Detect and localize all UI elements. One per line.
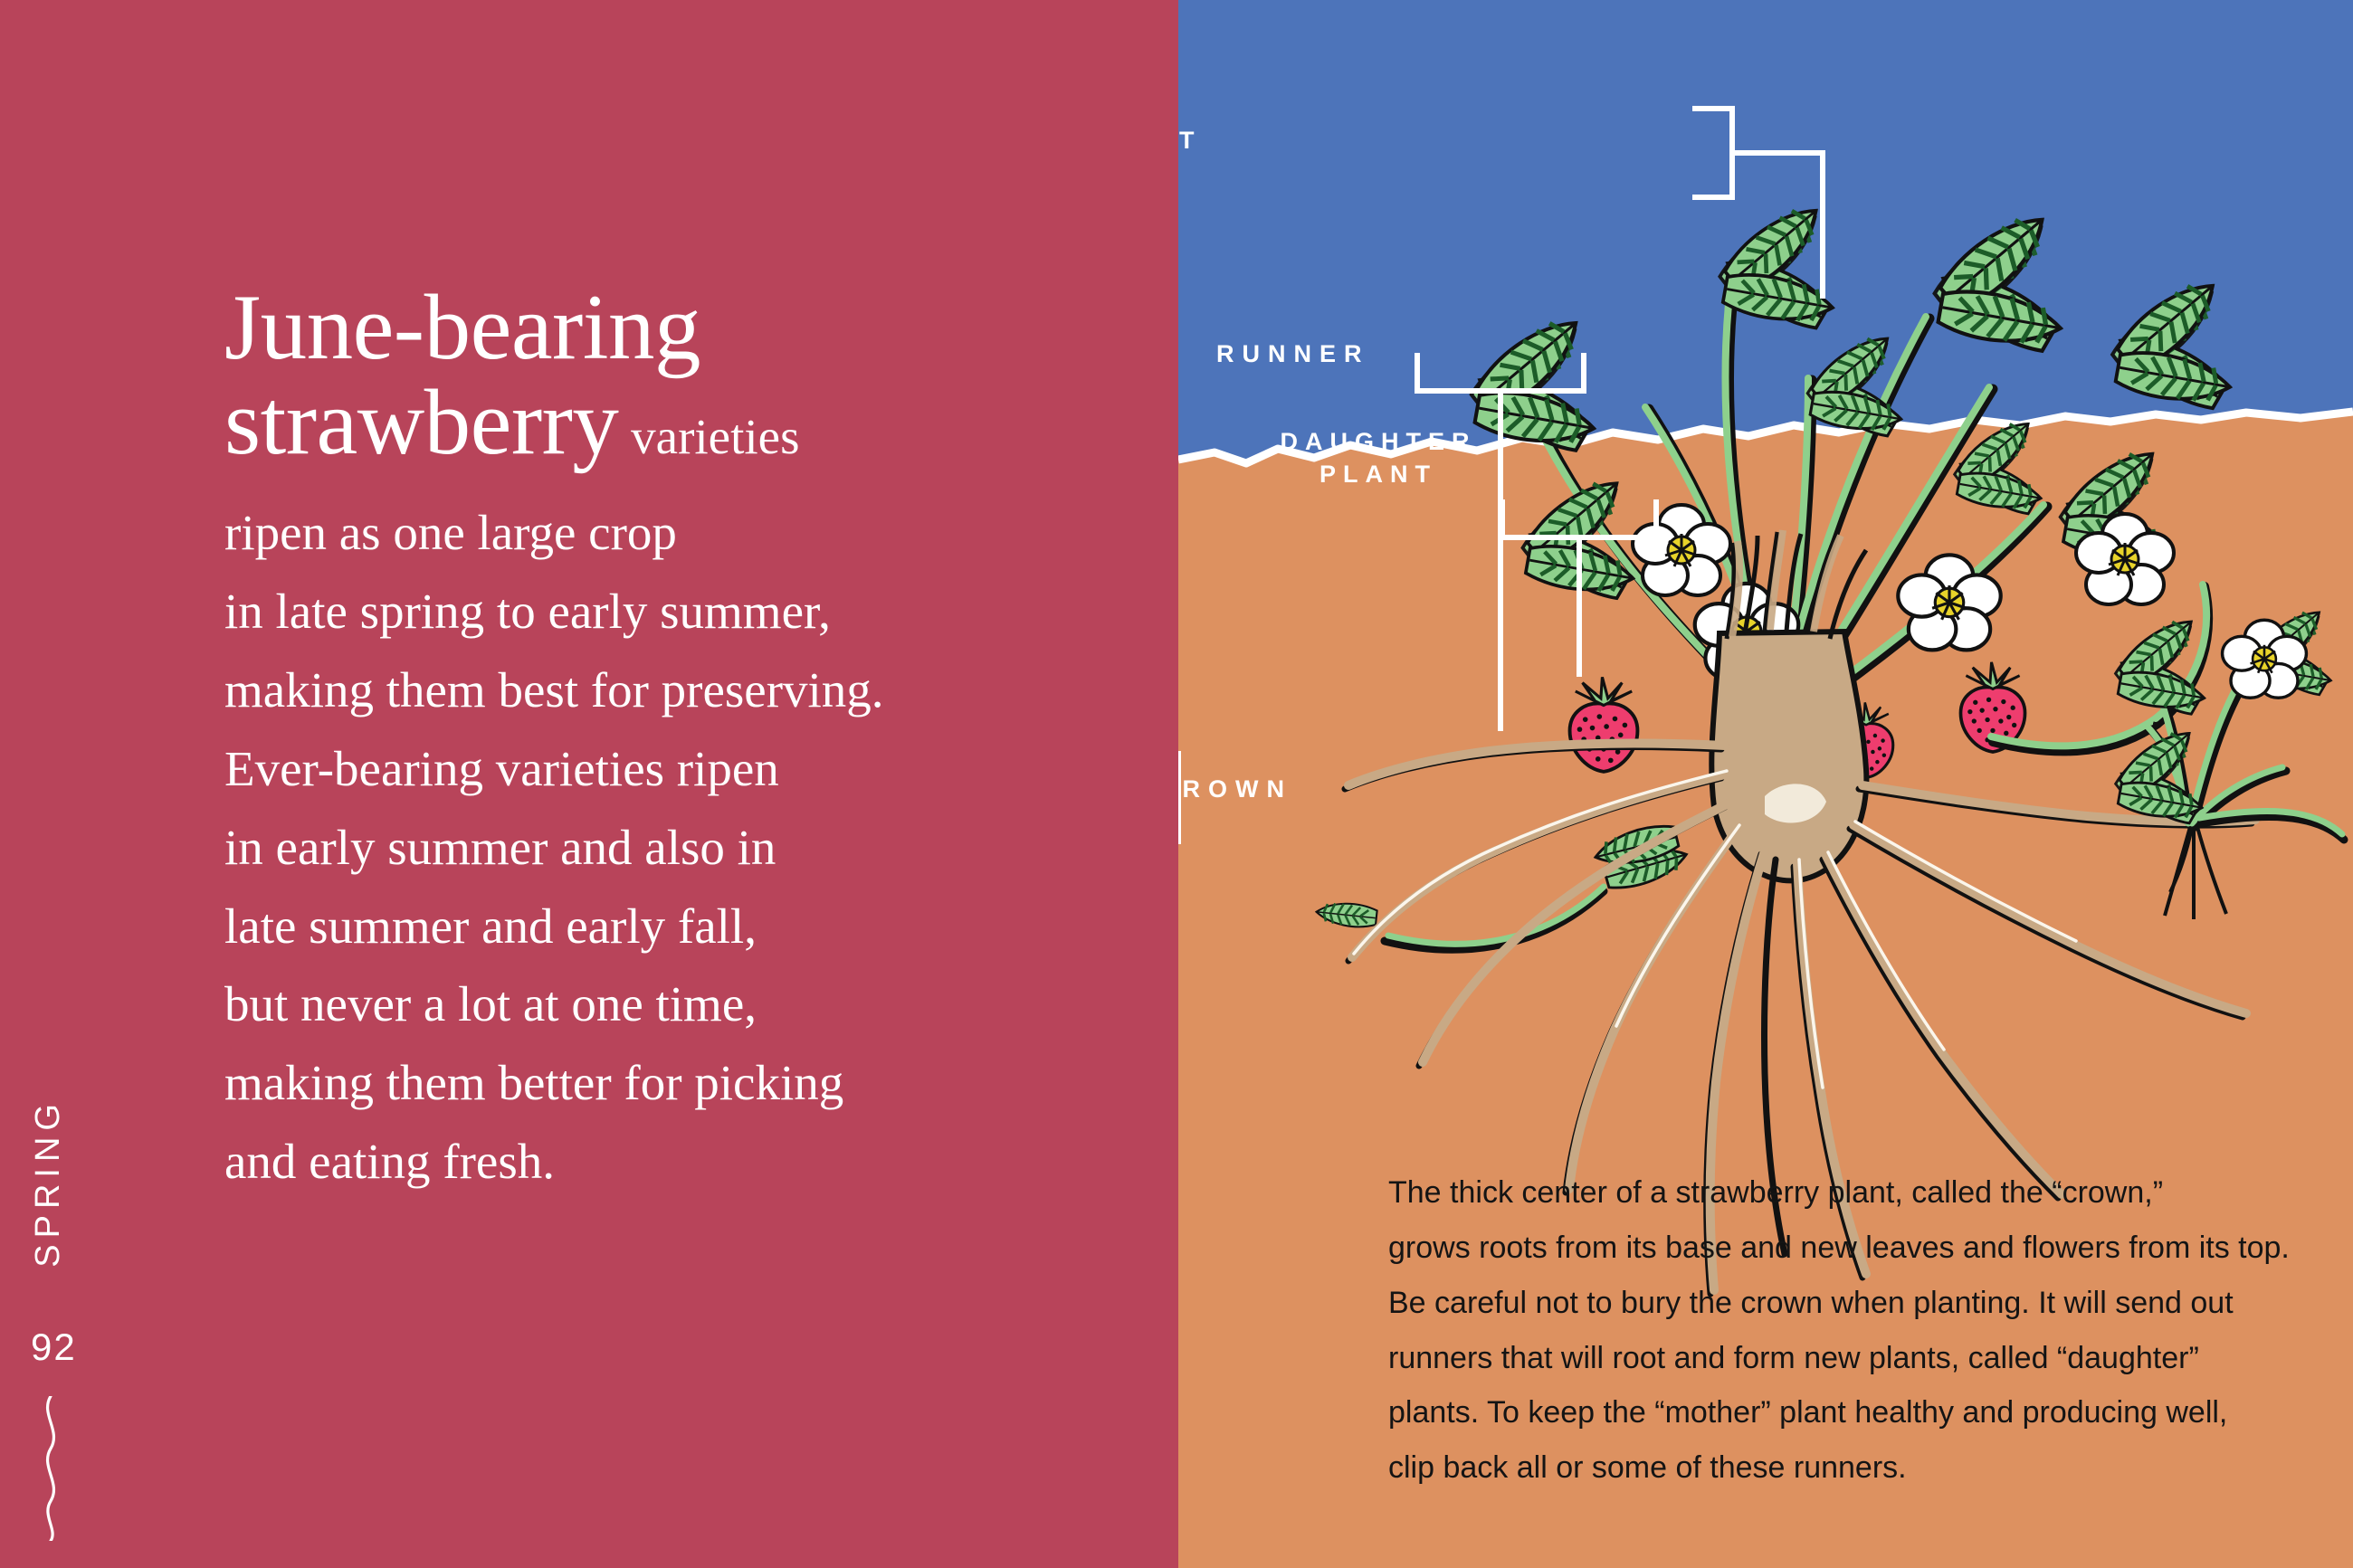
caption-line: grows roots from its base and new leaves…	[1388, 1221, 2230, 1276]
label-runner: RUNNER	[1216, 340, 1370, 368]
body-line: ripen as one large crop	[224, 494, 1093, 573]
caption-line: The thick center of a strawberry plant, …	[1388, 1165, 2230, 1221]
headline-line-1: June-bearing	[224, 276, 700, 379]
caption-line: clip back all or some of these runners.	[1388, 1440, 2230, 1496]
section-label: SPRING	[29, 1098, 68, 1268]
label-mother-plant: MOTHER PLANT	[1178, 127, 1202, 155]
body-copy: ripen as one large crop in late spring t…	[224, 494, 1093, 1202]
body-line: late summer and early fall,	[224, 888, 1093, 966]
body-line: making them best for preserving.	[224, 651, 1093, 730]
left-text-block: June-bearing strawberry varieties ripen …	[224, 280, 1093, 1202]
body-line: making them better for picking	[224, 1044, 1093, 1123]
label-daughter-plant: DAUGHTERPLANT	[1278, 425, 1479, 490]
body-line: in late spring to early summer,	[224, 573, 1093, 651]
caption-line: Be careful not to bury the crown when pl…	[1388, 1276, 2230, 1331]
body-line: but never a lot at one time,	[224, 965, 1093, 1044]
page-title: June-bearing strawberry varieties	[224, 280, 1093, 470]
right-page: MOTHER PLANT RUNNER DAUGHTERPLANT CROWN …	[1178, 0, 2353, 1568]
body-line: Ever-bearing varieties ripen	[224, 730, 1093, 809]
caption-line: runners that will root and form new plan…	[1388, 1331, 2230, 1386]
left-page: SPRING 92 June-bearing strawberry variet…	[0, 0, 1178, 1568]
label-crown: CROWN	[1178, 775, 1292, 803]
page-number: 92	[31, 1326, 77, 1369]
headline-line-2: strawberry	[224, 371, 618, 474]
body-line: and eating fresh.	[224, 1123, 1093, 1202]
headline-suffix: varieties	[618, 409, 799, 464]
squiggle-ornament-icon	[33, 1396, 69, 1541]
body-line: in early summer and also in	[224, 809, 1093, 888]
book-spread: SPRING 92 June-bearing strawberry variet…	[0, 0, 2353, 1568]
diagram-caption: The thick center of a strawberry plant, …	[1388, 1165, 2230, 1496]
caption-line: plants. To keep the “mother” plant healt…	[1388, 1385, 2230, 1440]
spine-margin: SPRING 92	[0, 0, 96, 1568]
